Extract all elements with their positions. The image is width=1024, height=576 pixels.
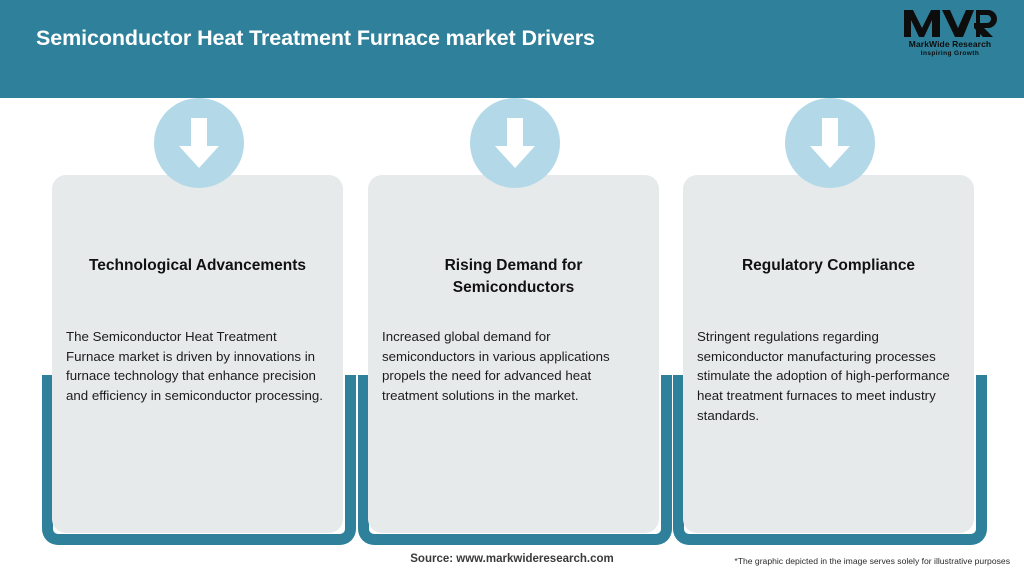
- card-body-text: The Semiconductor Heat Treatment Furnace…: [66, 327, 329, 406]
- arrow-down-icon: [154, 98, 244, 188]
- card-title: Regulatory Compliance: [699, 255, 958, 277]
- card-panel: Rising Demand for Semiconductors Increas…: [368, 175, 659, 533]
- logo-tagline: Inspiring Growth: [894, 50, 1006, 57]
- driver-card-3: Regulatory Compliance Stringent regulati…: [673, 98, 987, 545]
- card-panel: Technological Advancements The Semicondu…: [52, 175, 343, 533]
- header-bar: Semiconductor Heat Treatment Furnace mar…: [0, 0, 1024, 98]
- driver-card-1: Technological Advancements The Semicondu…: [42, 98, 356, 545]
- drivers-card-group: Technological Advancements The Semicondu…: [0, 98, 1024, 538]
- page-title: Semiconductor Heat Treatment Furnace mar…: [36, 26, 595, 51]
- brand-logo: MarkWide Research Inspiring Growth: [894, 8, 1006, 64]
- card-panel: Regulatory Compliance Stringent regulati…: [683, 175, 974, 533]
- card-body-text: Stringent regulations regarding semicond…: [697, 327, 960, 425]
- arrow-down-icon: [785, 98, 875, 188]
- card-title: Technological Advancements: [68, 255, 327, 277]
- logo-mark-icon: [894, 8, 1006, 38]
- card-body-text: Increased global demand for semiconducto…: [382, 327, 645, 406]
- arrow-down-icon: [470, 98, 560, 188]
- illustrative-disclaimer: *The graphic depicted in the image serve…: [734, 556, 1010, 566]
- logo-name: MarkWide Research: [894, 39, 1006, 49]
- card-title: Rising Demand for Semiconductors: [384, 255, 643, 299]
- driver-card-2: Rising Demand for Semiconductors Increas…: [358, 98, 672, 545]
